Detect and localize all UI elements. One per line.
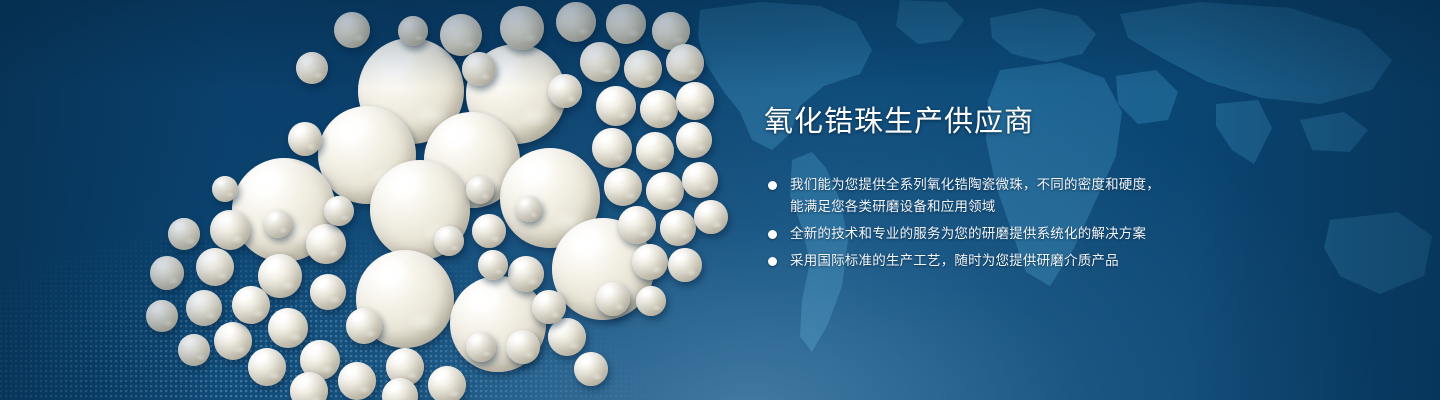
list-item-line: 采用国际标准的生产工艺，随时为您提供研磨介质产品: [790, 250, 1234, 272]
list-item-line: 能满足您各类研磨设备和应用领域: [790, 196, 1234, 218]
bullet-dot-icon: [768, 230, 777, 239]
bullet-dot-icon: [768, 257, 777, 266]
list-item: 我们能为您提供全系列氧化锆陶瓷微珠，不同的密度和硬度， 能满足您各类研磨设备和应…: [764, 174, 1234, 218]
bullet-dot-icon: [768, 181, 777, 190]
hero-banner: 氧化锆珠生产供应商 我们能为您提供全系列氧化锆陶瓷微珠，不同的密度和硬度， 能满…: [0, 0, 1440, 400]
page-title: 氧化锆珠生产供应商: [764, 104, 1234, 140]
list-item-line: 全新的技术和专业的服务为您的研磨提供系统化的解决方案: [790, 223, 1234, 245]
banner-copy: 氧化锆珠生产供应商 我们能为您提供全系列氧化锆陶瓷微珠，不同的密度和硬度， 能满…: [764, 104, 1234, 272]
list-item-line: 我们能为您提供全系列氧化锆陶瓷微珠，不同的密度和硬度，: [790, 174, 1234, 196]
feature-list: 我们能为您提供全系列氧化锆陶瓷微珠，不同的密度和硬度， 能满足您各类研磨设备和应…: [764, 174, 1234, 272]
list-item: 全新的技术和专业的服务为您的研磨提供系统化的解决方案: [764, 223, 1234, 245]
list-item: 采用国际标准的生产工艺，随时为您提供研磨介质产品: [764, 250, 1234, 272]
